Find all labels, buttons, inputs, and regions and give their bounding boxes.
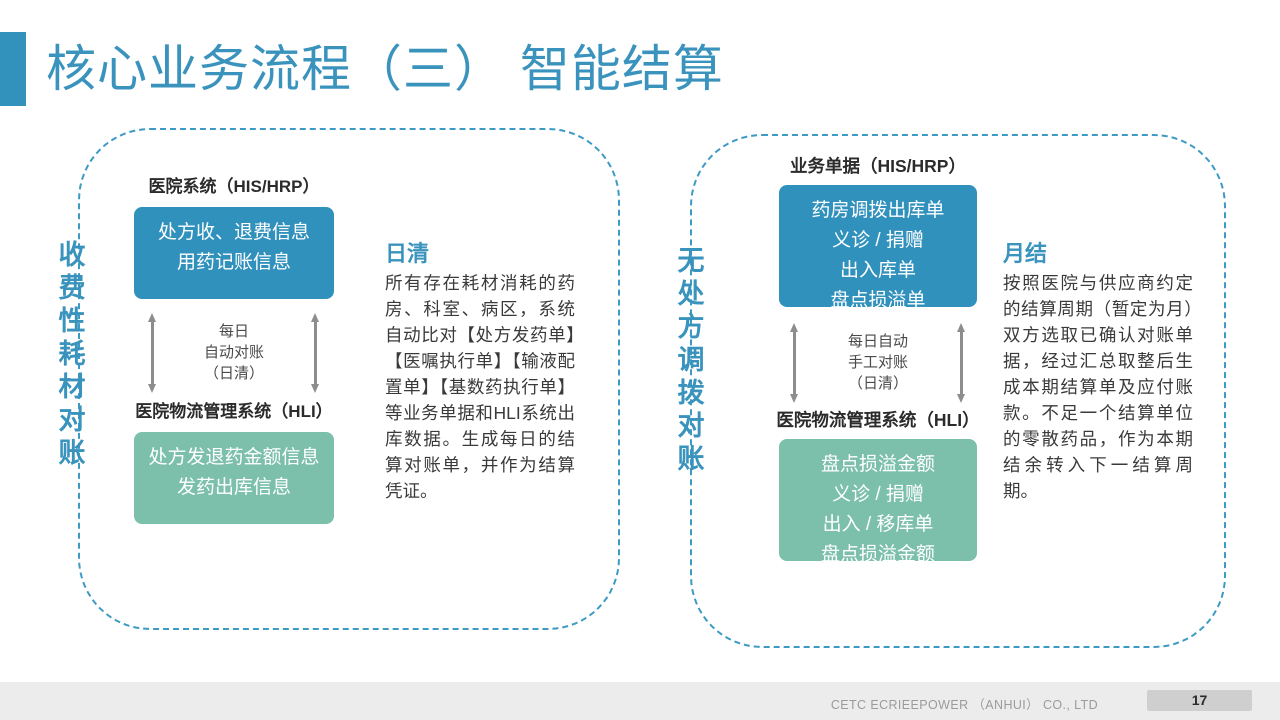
right-arrow-caption-2: （日清）: [758, 373, 998, 394]
left-vlabel-c6: 账: [54, 437, 90, 470]
right-bottom-box-line-3: 盘点损溢金额: [779, 540, 977, 570]
footer-company: CETC ECRIEEPOWER （ANHUI） CO., LTD: [831, 694, 1098, 713]
left-vlabel-c4: 材: [54, 371, 90, 404]
right-flow-column: 业务单据（HIS/HRP） 药房调拨出库单 义诊 / 捐赠 出入库单 盘点损溢单…: [758, 155, 998, 561]
left-top-box: 处方收、退费信息 用药记账信息: [134, 207, 334, 299]
right-top-box-line-3: 盘点损溢单: [779, 286, 977, 316]
left-top-system-heading: 医院系统（HIS/HRP）: [118, 176, 350, 198]
left-bottom-box-line-0: 处方发退药金额信息: [134, 443, 334, 473]
left-flow-column: 医院系统（HIS/HRP） 处方收、退费信息 用药记账信息 每日 自动对账 （日…: [118, 176, 350, 524]
right-arrow-block: 每日自动 手工对账 （日清）: [758, 317, 998, 409]
left-vlabel-c0: 收: [54, 239, 90, 272]
right-bottom-box-line-1: 义诊 / 捐赠: [779, 480, 977, 510]
right-bottom-box-line-2: 出入 / 移库单: [779, 510, 977, 540]
right-bottom-system-heading: 医院物流管理系统（HLI）: [758, 409, 998, 431]
left-description: 日清 所有存在耗材消耗的药房、科室、病区，系统自动比对【处方发药单】【医嘱执行单…: [385, 240, 575, 504]
right-vlabel-c3: 调: [673, 344, 709, 377]
left-arrow-block: 每日 自动对账 （日清）: [118, 307, 350, 401]
left-vlabel-c2: 性: [54, 305, 90, 338]
right-vertical-label: 无 处 方 调 拨 对 账: [673, 245, 709, 476]
right-vlabel-c1: 处: [673, 278, 709, 311]
footer-page-number: 17: [1147, 692, 1252, 709]
right-arrow-caption: 每日自动 手工对账 （日清）: [758, 331, 998, 394]
right-description-body: 按照医院与供应商约定的结算周期（暂定为月）双方选取已确认对账单据，经过汇总取整后…: [1003, 270, 1193, 504]
left-bottom-box: 处方发退药金额信息 发药出库信息: [134, 432, 334, 524]
right-top-box-line-2: 出入库单: [779, 256, 977, 286]
right-top-box-line-0: 药房调拨出库单: [779, 196, 977, 226]
left-arrow-caption-0: 每日: [118, 321, 350, 342]
right-description-title: 月结: [1003, 240, 1193, 268]
right-arrow-caption-1: 手工对账: [758, 352, 998, 373]
left-arrow-caption-1: 自动对账: [118, 342, 350, 363]
left-vlabel-c1: 费: [54, 272, 90, 305]
right-vlabel-c0: 无: [673, 245, 709, 278]
left-vlabel-c5: 对: [54, 404, 90, 437]
left-arrow-caption: 每日 自动对账 （日清）: [118, 321, 350, 384]
page-title: 核心业务流程（三） 智能结算: [46, 34, 724, 104]
right-top-system-heading: 业务单据（HIS/HRP）: [758, 155, 998, 177]
right-vlabel-c5: 对: [673, 410, 709, 443]
left-vertical-label: 收 费 性 耗 材 对 账: [54, 239, 90, 470]
right-bottom-box: 盘点损溢金额 义诊 / 捐赠 出入 / 移库单 盘点损溢金额: [779, 439, 977, 561]
right-vlabel-c2: 方: [673, 311, 709, 344]
right-vlabel-c4: 拨: [673, 377, 709, 410]
left-description-title: 日清: [385, 240, 575, 268]
left-description-body: 所有存在耗材消耗的药房、科室、病区，系统自动比对【处方发药单】【医嘱执行单】【输…: [385, 270, 575, 504]
right-description: 月结 按照医院与供应商约定的结算周期（暂定为月）双方选取已确认对账单据，经过汇总…: [1003, 240, 1193, 504]
slide-canvas: 核心业务流程（三） 智能结算 收 费 性 耗 材 对 账 医院系统（HIS/HR…: [0, 0, 1280, 720]
right-top-box: 药房调拨出库单 义诊 / 捐赠 出入库单 盘点损溢单: [779, 185, 977, 307]
left-bottom-box-line-1: 发药出库信息: [134, 473, 334, 503]
left-bottom-system-heading: 医院物流管理系统（HLI）: [118, 401, 350, 423]
left-top-box-line-1: 用药记账信息: [134, 248, 334, 278]
left-vlabel-c3: 耗: [54, 338, 90, 371]
right-vlabel-c6: 账: [673, 443, 709, 476]
right-arrow-caption-0: 每日自动: [758, 331, 998, 352]
title-accent-bar: [0, 32, 26, 106]
right-bottom-box-line-0: 盘点损溢金额: [779, 450, 977, 480]
right-top-box-line-1: 义诊 / 捐赠: [779, 226, 977, 256]
left-top-box-line-0: 处方收、退费信息: [134, 218, 334, 248]
left-arrow-caption-2: （日清）: [118, 363, 350, 384]
